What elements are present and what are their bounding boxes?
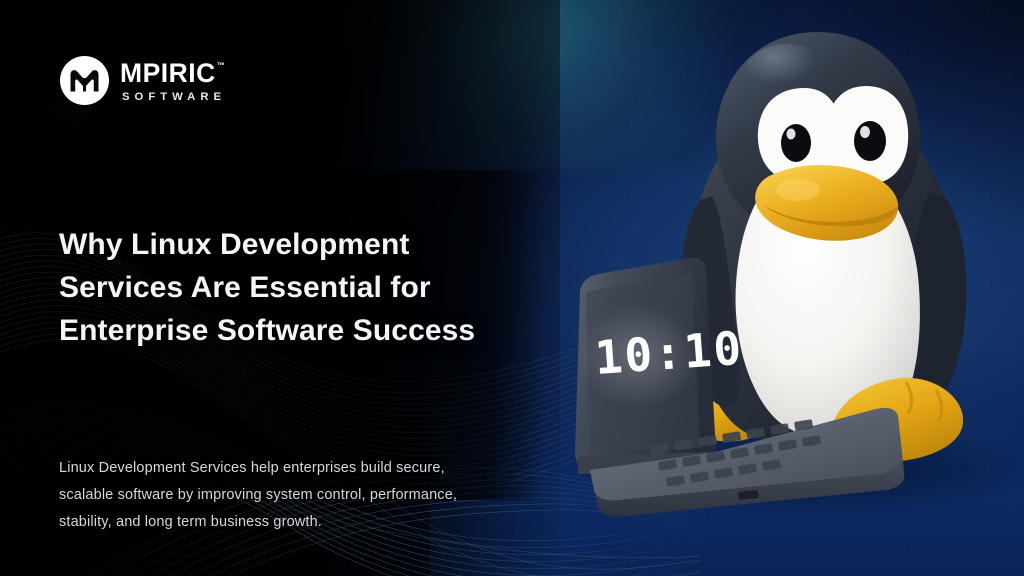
hero-description: Linux Development Services help enterpri…	[59, 455, 559, 536]
trademark-symbol: ™	[217, 62, 225, 70]
laptop-clock: 10:10	[593, 321, 745, 385]
mpiric-m-circle-icon	[60, 56, 109, 105]
headline-line-3: Enterprise Software Success	[59, 309, 529, 352]
headline-line-2: Services Are Essential for	[59, 266, 529, 309]
page-title: Why Linux Development Services Are Essen…	[59, 223, 529, 353]
headline-line-1: Why Linux Development	[59, 223, 529, 266]
body-line-2: scalable software by improving system co…	[59, 482, 559, 509]
hero-banner: 10:10	[0, 0, 1024, 576]
hero-illustration: 10:10	[520, 0, 1024, 576]
brand-tagline: SOFTWARE	[120, 92, 226, 103]
brand-logo[interactable]: MPIRIC ™ SOFTWARE	[60, 56, 226, 105]
tux-eye-left	[781, 124, 811, 162]
body-line-3: stability, and long term business growth…	[59, 509, 559, 536]
body-line-1: Linux Development Services help enterpri…	[59, 455, 559, 482]
tux-eye-right	[854, 121, 886, 161]
tux-penguin	[681, 32, 967, 462]
brand-name: MPIRIC	[120, 60, 216, 87]
